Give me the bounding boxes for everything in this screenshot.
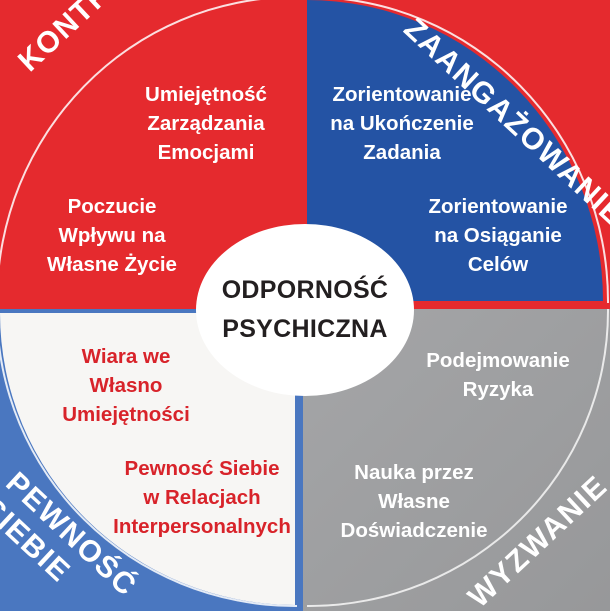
item-line: Interpersonalnych: [104, 512, 300, 541]
item-line: Doświadczenie: [320, 516, 508, 545]
item-line: Nauka przez: [320, 458, 508, 487]
item-line: Umiejętność: [118, 80, 294, 109]
item-wyzwanie-1: Podejmowanie Ryzyka: [404, 346, 592, 404]
item-pewnosc-siebie-2: Pewnosć Siebie w Relacjach Interpersonal…: [104, 454, 300, 541]
item-line: Własne: [320, 487, 508, 516]
item-line: Wpływu na: [24, 221, 200, 250]
center-title-line-2: PSYCHICZNA: [222, 310, 388, 349]
item-line: Pewnosć Siebie: [104, 454, 300, 483]
item-line: Podejmowanie: [404, 346, 592, 375]
item-line: Zarządzania: [118, 109, 294, 138]
item-line: Ryzyka: [404, 375, 592, 404]
item-line: Własno: [38, 371, 214, 400]
item-kontrola-2: Poczucie Wpływu na Własne Życie: [24, 192, 200, 279]
item-line: Zadania: [312, 138, 492, 167]
item-line: Poczucie: [24, 192, 200, 221]
center-title-line-1: ODPORNOŚĆ: [222, 271, 389, 310]
item-line: Emocjami: [118, 138, 294, 167]
item-line: Celów: [408, 250, 588, 279]
item-pewnosc-siebie-1: Wiara we Własno Umiejętności: [38, 342, 214, 429]
item-line: na Osiąganie: [408, 221, 588, 250]
item-zaangazowanie-2: Zorientowanie na Osiąganie Celów: [408, 192, 588, 279]
item-kontrola-1: Umiejętność Zarządzania Emocjami: [118, 80, 294, 167]
item-line: Wiara we: [38, 342, 214, 371]
item-line: Własne Życie: [24, 250, 200, 279]
item-line: na Ukończenie: [312, 109, 492, 138]
item-wyzwanie-2: Nauka przez Własne Doświadczenie: [320, 458, 508, 545]
mental-toughness-diagram: KONTROLA ZAANGAŻOWANIE PEWNOŚĆ SIEBIE WY…: [0, 0, 610, 611]
item-line: Umiejętności: [38, 400, 214, 429]
item-line: Zorientowanie: [408, 192, 588, 221]
center-circle: ODPORNOŚĆ PSYCHICZNA: [196, 224, 414, 396]
item-line: w Relacjach: [104, 483, 300, 512]
